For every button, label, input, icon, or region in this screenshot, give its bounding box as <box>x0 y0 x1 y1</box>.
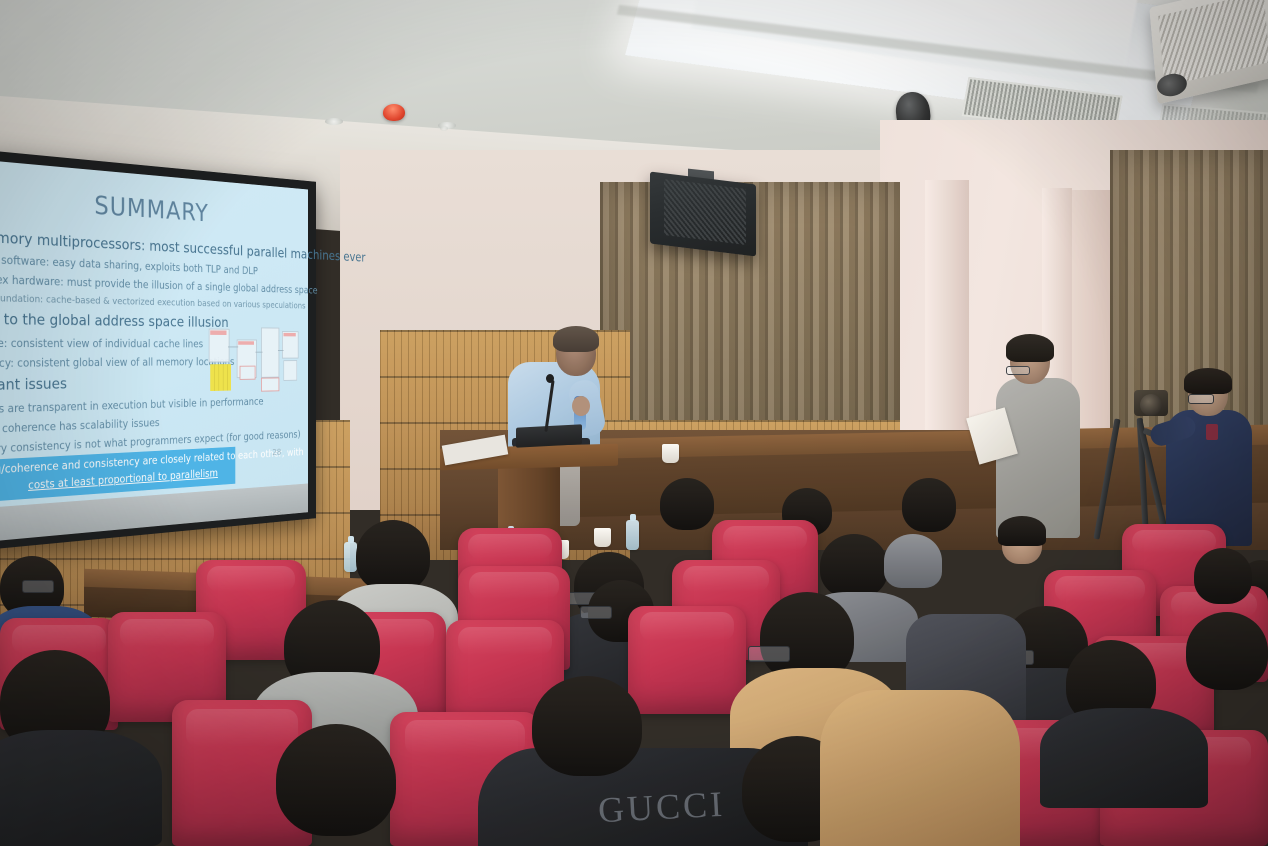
smoke-detector-icon <box>383 104 405 121</box>
glasses-icon <box>22 580 54 593</box>
paper-cup <box>662 444 679 463</box>
camera-operator-hair <box>1184 368 1232 394</box>
jacket-logo <box>1206 424 1218 440</box>
microphone-icon <box>546 374 554 383</box>
diagram-highlight-grid <box>210 364 231 391</box>
audience-hair <box>998 516 1046 546</box>
slide-diagram <box>207 325 300 398</box>
audience-head <box>276 724 396 836</box>
speaker-grill <box>664 179 746 245</box>
audience-head <box>902 478 956 532</box>
paper-cup <box>594 528 611 547</box>
audience-head <box>660 478 714 530</box>
standing-attendee-hair <box>1006 334 1054 362</box>
water-bottle <box>626 520 639 550</box>
glasses-icon <box>580 606 612 619</box>
laptop-on-podium <box>516 424 582 447</box>
audience-head <box>1194 548 1252 604</box>
ceiling-spot-light <box>440 126 448 131</box>
projection-screen: SUMMARY memory multiprocessors: most suc… <box>0 150 316 550</box>
glasses-icon <box>1188 394 1214 404</box>
audience-shoulders <box>820 690 1020 846</box>
slide-line: erence: consistent view of individual ca… <box>0 336 203 350</box>
presenter-hair <box>553 326 599 352</box>
slide-line: rent foundation: cache-based & vectorize… <box>0 293 306 311</box>
jacket-brand-text: GUCCI <box>597 783 726 832</box>
slide-line: omplex hardware: must provide the illusi… <box>0 271 317 296</box>
audience-shoulders <box>1040 708 1208 808</box>
presenter-hand <box>572 396 590 416</box>
audience-head <box>356 520 430 592</box>
slide-line: ects to the global address space illusio… <box>0 310 229 331</box>
standing-attendee-torso <box>996 378 1080 538</box>
camera-lens-icon <box>1140 394 1162 416</box>
audience-head <box>532 676 642 776</box>
audience-head <box>820 534 888 598</box>
slide-line: sistency: consistent global view of all … <box>0 355 234 370</box>
audience-shoulders <box>0 730 162 846</box>
ceiling-spot-light <box>325 118 343 125</box>
auditorium-seat <box>628 606 746 714</box>
slide-line: Caches are transparent in execution but … <box>0 395 263 417</box>
slide-line: portant issues <box>0 375 67 394</box>
glasses-icon <box>1006 366 1030 375</box>
screen-surface: SUMMARY memory multiprocessors: most suc… <box>0 160 308 507</box>
lecture-hall-photo: SUMMARY memory multiprocessors: most suc… <box>0 0 1268 846</box>
audience-head <box>1186 612 1268 690</box>
audience-beanie-hat <box>884 534 942 588</box>
slide-line: Cache coherence has scalability issues <box>0 416 160 437</box>
slide-page-number: 28 <box>272 448 281 458</box>
glasses-icon <box>748 646 790 662</box>
slide-title: SUMMARY <box>94 191 208 228</box>
